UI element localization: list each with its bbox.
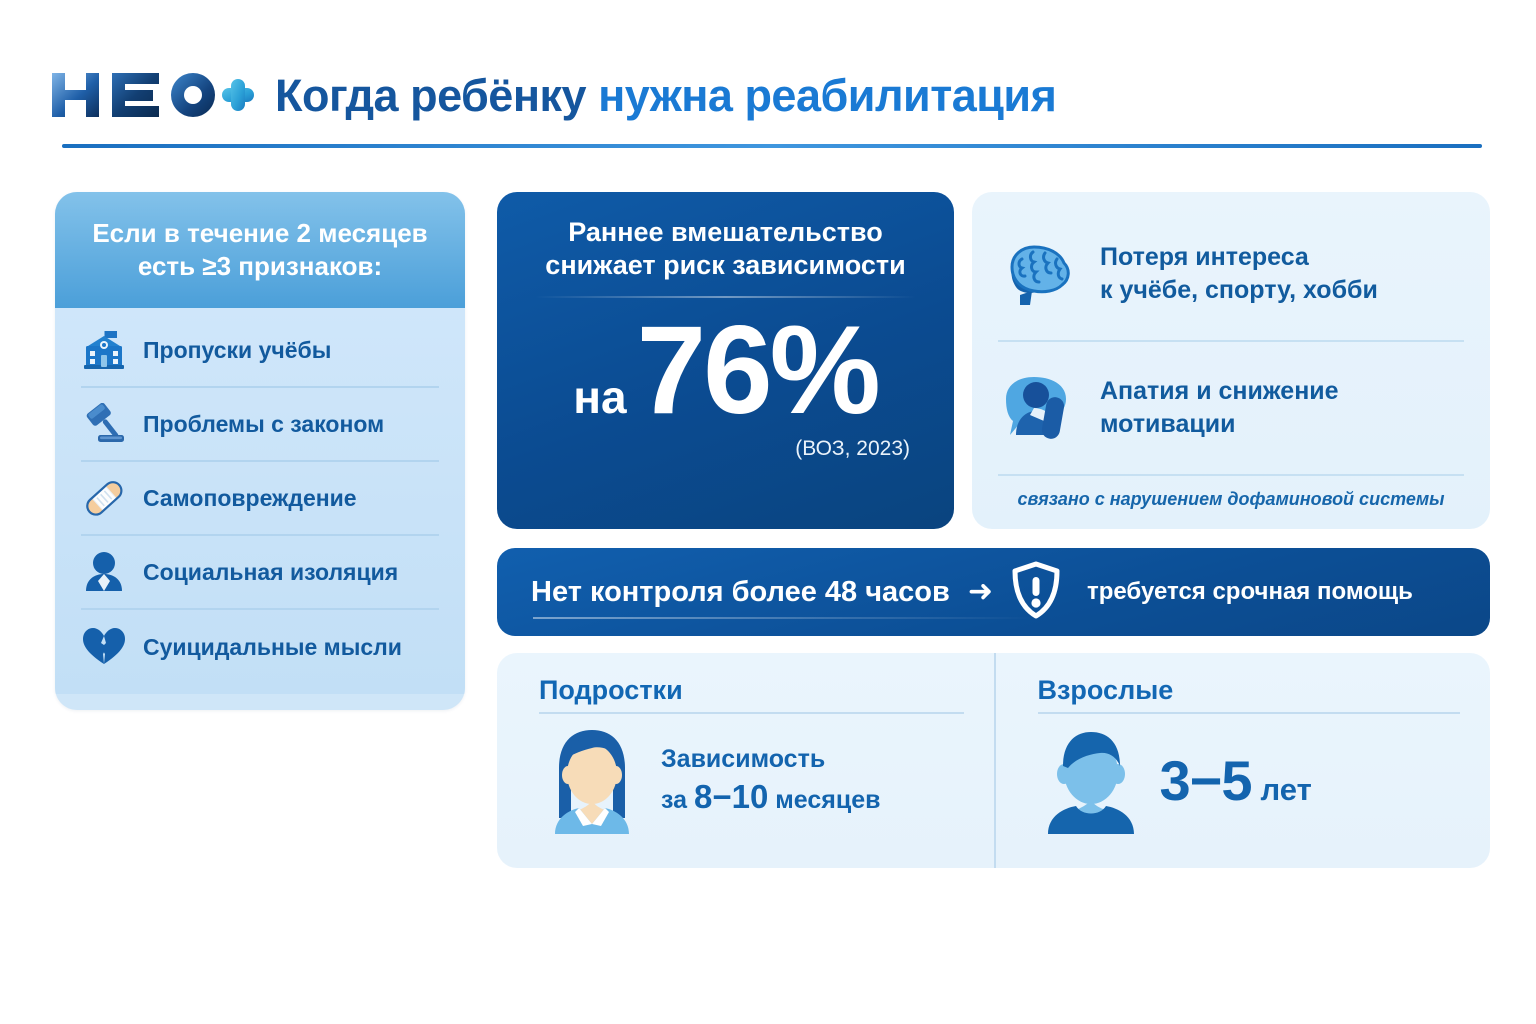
urgent-action-text: требуется срочная помощь (1087, 578, 1413, 606)
page-title-secondary: нужна реабилитация (598, 70, 1056, 121)
symptom-line2: мотивации (1100, 410, 1235, 438)
comparison-divider (539, 712, 964, 714)
comparison-panel: Подростки (497, 653, 1490, 868)
person-icon (81, 549, 127, 595)
symptom-line1: Апатия и снижение (1100, 377, 1339, 405)
adults-value-number: 3−5 (1160, 748, 1252, 813)
apathy-person-icon (998, 372, 1078, 444)
gavel-icon (81, 401, 127, 447)
statistic-value-row: на 76% (523, 312, 928, 431)
symptom-text: Потеря интереса к учёбе, спорту, хобби (1100, 241, 1378, 307)
teens-value-number: 8−10 (694, 778, 768, 815)
statistic-prefix: на (573, 374, 626, 420)
signs-heading-line2: есть ≥3 признаков: (138, 250, 382, 283)
brain-icon (998, 238, 1078, 310)
broken-heart-icon (81, 624, 127, 670)
signs-list: Пропуски учёбы Проблемы с законом (55, 308, 465, 694)
shield-alert-icon (1011, 561, 1061, 624)
symptom-line2: к учёбе, спорту, хобби (1100, 276, 1378, 304)
signs-panel: Если в течение 2 месяцев есть ≥3 признак… (55, 192, 465, 710)
sign-label: Суицидальные мысли (143, 634, 402, 661)
statistic-heading-line2: снижает риск зависимости (523, 249, 928, 282)
signs-panel-header: Если в течение 2 месяцев есть ≥3 признак… (55, 192, 465, 308)
arrow-right-icon: ➜ (968, 577, 993, 607)
statistic-divider (535, 296, 916, 298)
urgent-underline (533, 617, 1033, 619)
infographic-page: Когда ребёнку нужна реабилитация Если в … (0, 0, 1536, 1024)
list-item: Самоповреждение (81, 462, 439, 536)
comparison-body-teens: Зависимость за 8−10 месяцев (539, 722, 964, 839)
list-item: Проблемы с законом (81, 388, 439, 462)
list-item: Социальная изоляция (81, 536, 439, 610)
page-title: Когда ребёнку нужна реабилитация (275, 73, 1056, 118)
sign-label: Проблемы с законом (143, 411, 384, 438)
neo-plus-logo (50, 67, 255, 123)
statistic-value: 76% (637, 312, 878, 431)
comparison-column-adults: Взрослые 3−5 лет (994, 653, 1491, 868)
symptoms-panel: Потеря интереса к учёбе, спорту, хобби А… (972, 192, 1490, 529)
comparison-body-adults: 3−5 лет (1038, 722, 1461, 839)
sign-label: Пропуски учёбы (143, 337, 331, 364)
signs-heading-line1: Если в течение 2 месяцев (92, 217, 427, 250)
comparison-divider (1038, 712, 1461, 714)
sign-label: Социальная изоляция (143, 559, 398, 586)
symptom-text: Апатия и снижение мотивации (1100, 375, 1339, 441)
sign-label: Самоповреждение (143, 485, 357, 512)
adult-man-avatar (1038, 722, 1144, 839)
comparison-column-teens: Подростки (497, 653, 994, 868)
comparison-title-adults: Взрослые (1038, 675, 1461, 706)
comparison-value-adults: 3−5 лет (1160, 748, 1312, 813)
urgent-condition-text: Нет контроля более 48 часов (531, 576, 950, 609)
symptom-line1: Потеря интереса (1100, 243, 1309, 271)
adults-value-unit: лет (1261, 772, 1312, 808)
list-item: Потеря интереса к учёбе, спорту, хобби (998, 208, 1464, 342)
page-title-primary: Когда ребёнку (275, 70, 586, 121)
bandage-icon (81, 475, 127, 521)
teen-girl-avatar (539, 722, 645, 839)
statistic-panel: Раннее вмешательство снижает риск зависи… (497, 192, 954, 529)
statistic-heading: Раннее вмешательство снижает риск зависи… (523, 216, 928, 282)
list-item: Пропуски учёбы (81, 314, 439, 388)
list-item: Апатия и снижение мотивации (998, 342, 1464, 476)
school-icon (81, 327, 127, 373)
statistic-source: (ВОЗ, 2023) (523, 437, 928, 461)
page-header: Когда ребёнку нужна реабилитация (50, 45, 1490, 145)
urgent-alert-bar: Нет контроля более 48 часов ➜ требуется … (497, 548, 1490, 636)
comparison-title-teens: Подростки (539, 675, 964, 706)
teens-value-line1: Зависимость (661, 744, 880, 775)
comparison-value-teens: Зависимость за 8−10 месяцев (661, 744, 880, 817)
teens-value-unit: месяцев (775, 786, 880, 814)
symptoms-footnote: связано с нарушением дофаминовой системы (998, 489, 1464, 510)
list-item: Суицидальные мысли (81, 610, 439, 684)
statistic-heading-line1: Раннее вмешательство (523, 216, 928, 249)
header-divider (62, 144, 1482, 148)
teens-value-prefix: за (661, 786, 687, 814)
